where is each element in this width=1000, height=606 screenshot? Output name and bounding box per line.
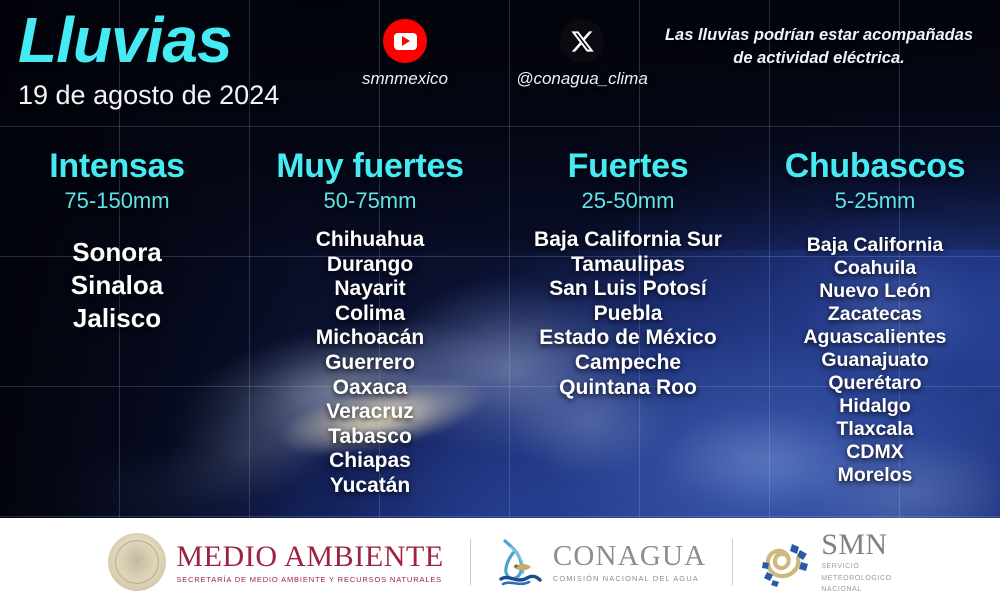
forecast-date: 19 de agosto de 2024 [18, 80, 279, 110]
state-item: Guerrero [234, 351, 506, 376]
category-title-fuertes: Fuertes [506, 146, 750, 186]
state-item: Michoacán [234, 326, 506, 351]
state-item: Nayarit [234, 277, 506, 302]
state-item: Coahuila [750, 257, 1000, 280]
category-title-muy-fuertes: Muy fuertes [234, 146, 506, 186]
state-item: Sonora [0, 236, 234, 269]
category-column-intensas: Intensas 75-150mm Sonora Sinaloa Jalisco [0, 140, 234, 515]
electric-activity-note: Las lluvias podrían estar acompañadas de… [654, 24, 984, 70]
state-item: Hidalgo [750, 395, 1000, 418]
category-range-chubascos: 5-25mm [750, 187, 1000, 214]
state-item: Nuevo León [750, 280, 1000, 303]
state-item: Oaxaca [234, 376, 506, 401]
mexico-seal-icon [108, 533, 166, 591]
x-icon-wrap [492, 18, 672, 64]
social-link-youtube[interactable]: smnmexico [315, 18, 495, 89]
smn-spiral-icon [759, 536, 811, 588]
note-line-2: de actividad eléctrica. [654, 47, 984, 70]
x-twitter-icon[interactable] [560, 19, 604, 63]
category-range-fuertes: 25-50mm [506, 187, 750, 214]
state-list-chubascos: Baja California Coahuila Nuevo León Zaca… [750, 234, 1000, 487]
logo-conagua: CONAGUA COMISIÓN NACIONAL DEL AGUA [497, 537, 706, 587]
smn-subtitle-line-3: NACIONAL [821, 585, 891, 595]
note-line-1: Las lluvias podrían estar acompañadas [654, 24, 984, 47]
state-item: Yucatán [234, 474, 506, 499]
category-column-chubascos: Chubascos 5-25mm Baja California Coahuil… [750, 140, 1000, 515]
state-item: Guanajuato [750, 349, 1000, 372]
state-item: Sinaloa [0, 269, 234, 302]
rain-category-columns: Intensas 75-150mm Sonora Sinaloa Jalisco… [0, 140, 1000, 515]
title-block: Lluvias 19 de agosto de 2024 [18, 4, 279, 110]
state-item: Aguascalientes [750, 326, 1000, 349]
logo-medio-ambiente: MEDIO AMBIENTE SECRETARÍA DE MEDIO AMBIE… [108, 533, 444, 591]
footer-logo-bar: MEDIO AMBIENTE SECRETARÍA DE MEDIO AMBIE… [0, 518, 1000, 606]
x-handle: @conagua_clima [492, 69, 672, 89]
medio-ambiente-subtitle: SECRETARÍA DE MEDIO AMBIENTE Y RECURSOS … [176, 574, 444, 585]
conagua-subtitle: COMISIÓN NACIONAL DEL AGUA [553, 573, 706, 584]
state-item: Tlaxcala [750, 418, 1000, 441]
social-link-x[interactable]: @conagua_clima [492, 18, 672, 89]
category-column-muy-fuertes: Muy fuertes 50-75mm Chihuahua Durango Na… [234, 140, 506, 515]
state-list-intensas: Sonora Sinaloa Jalisco [0, 236, 234, 335]
category-range-intensas: 75-150mm [0, 187, 234, 214]
youtube-icon[interactable] [383, 19, 427, 63]
state-item: CDMX [750, 441, 1000, 464]
youtube-handle: smnmexico [315, 69, 495, 89]
state-item: Zacatecas [750, 303, 1000, 326]
state-item: Tabasco [234, 425, 506, 450]
state-item: Durango [234, 253, 506, 278]
state-item: Querétaro [750, 372, 1000, 395]
conagua-title: CONAGUA [553, 541, 706, 572]
logo-divider [732, 539, 733, 585]
state-list-fuertes: Baja California Sur Tamaulipas San Luis … [506, 228, 750, 400]
smn-title: SMN [821, 529, 891, 560]
medio-ambiente-text: MEDIO AMBIENTE SECRETARÍA DE MEDIO AMBIE… [176, 540, 444, 585]
medio-ambiente-title: MEDIO AMBIENTE [176, 540, 444, 573]
state-item: Campeche [506, 351, 750, 376]
state-item: Estado de México [506, 326, 750, 351]
state-item: Jalisco [0, 302, 234, 335]
state-list-muy-fuertes: Chihuahua Durango Nayarit Colima Michoac… [234, 228, 506, 499]
smn-text-block: SMN SERVICIO METEOROLÓGICO NACIONAL [821, 529, 891, 595]
conagua-text-block: CONAGUA COMISIÓN NACIONAL DEL AGUA [553, 541, 706, 584]
category-range-muy-fuertes: 50-75mm [234, 187, 506, 214]
state-item: Colima [234, 302, 506, 327]
logo-divider [470, 539, 471, 585]
youtube-play-box [394, 33, 417, 50]
state-item: Chiapas [234, 449, 506, 474]
category-title-intensas: Intensas [0, 146, 234, 186]
header: Lluvias 19 de agosto de 2024 smnmexico [0, 0, 1000, 128]
state-item: Morelos [750, 464, 1000, 487]
youtube-icon-wrap [315, 18, 495, 64]
state-item: Chihuahua [234, 228, 506, 253]
state-item: Veracruz [234, 400, 506, 425]
category-title-chubascos: Chubascos [750, 146, 1000, 186]
category-column-fuertes: Fuertes 25-50mm Baja California Sur Tama… [506, 140, 750, 515]
state-item: San Luis Potosí [506, 277, 750, 302]
youtube-play-triangle [402, 36, 410, 46]
state-item: Quintana Roo [506, 376, 750, 401]
state-item: Puebla [506, 302, 750, 327]
state-item: Baja California Sur [506, 228, 750, 253]
page-title: Lluvias [18, 4, 279, 76]
state-item: Baja California [750, 234, 1000, 257]
conagua-eagle-water-icon [497, 537, 543, 587]
smn-subtitle-line-1: SERVICIO [821, 562, 891, 572]
rain-forecast-infographic: Lluvias 19 de agosto de 2024 smnmexico [0, 0, 1000, 606]
logo-smn: SMN SERVICIO METEOROLÓGICO NACIONAL [759, 529, 891, 595]
smn-subtitle-line-2: METEOROLÓGICO [821, 574, 891, 584]
state-item: Tamaulipas [506, 253, 750, 278]
